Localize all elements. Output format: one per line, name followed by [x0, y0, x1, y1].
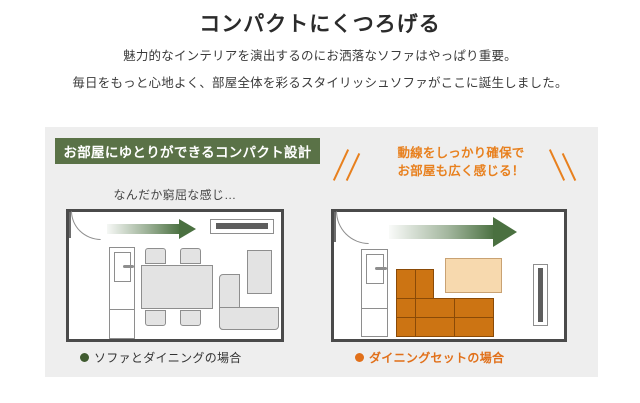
subtitle-line-1: 魅力的なインテリアを演出するのにお洒落なソファはやっぱり重要。: [0, 45, 640, 64]
door-swing-arc-icon: [71, 211, 101, 240]
page-title: コンパクトにくつろげる: [0, 8, 640, 38]
green-bullet-icon: [80, 353, 89, 362]
floor-plan-dining-set: [331, 209, 567, 342]
sofa-seam-vertical: [415, 269, 416, 337]
legend-sofa-and-dining-label: ソファとダイニングの場合: [94, 349, 242, 366]
cabinet-divider: [361, 308, 388, 309]
legend-sofa-and-dining: ソファとダイニングの場合: [80, 349, 242, 366]
room-right: [334, 212, 564, 339]
promo-page: コンパクトにくつろげる 魅力的なインテリアを演出するのにお洒落なソファはやっぱり…: [0, 0, 640, 403]
sofa-seam-seat-divider: [454, 298, 455, 337]
flow-arrow-green-small-head: [179, 219, 196, 239]
orange-bullet-icon: [355, 353, 364, 362]
spacious-callout: 動線をしっかり確保で お部屋も広く感じる！: [366, 144, 556, 180]
dining-chair-bottom-right: [180, 310, 201, 326]
sofa-seam-horizontal: [396, 317, 494, 318]
low-table-tan: [445, 258, 502, 293]
dining-table: [141, 265, 213, 309]
dining-chair-top-right: [180, 248, 201, 264]
dining-chair-top-left: [145, 248, 166, 264]
flow-arrow-green-large-head: [493, 217, 517, 247]
tv-screen-icon: [216, 223, 268, 229]
cabinet-handle-icon: [375, 267, 387, 270]
room-left: [69, 212, 281, 339]
l-shaped-sofa-seat: [219, 307, 279, 330]
legend-dining-set: ダイニングセットの場合: [355, 349, 504, 366]
flow-arrow-green-small-body: [107, 224, 181, 234]
subtitle-line-2: 毎日をもっと心地よく、部屋全体を彩るスタイリッシュソファがここに誕生しました。: [0, 72, 640, 91]
flow-arrow-green-large-body: [389, 225, 495, 239]
floor-plan-sofa-and-dining: [66, 209, 284, 342]
spacious-callout-line-1: 動線をしっかり確保で: [366, 144, 556, 162]
cabinet-handle-icon: [123, 265, 134, 268]
wall-tv-screen-icon: [538, 268, 543, 322]
cabinet-divider: [109, 309, 135, 310]
left-plan-caption: なんだか窮屈な感じ…: [60, 186, 290, 203]
side-shelf: [247, 250, 272, 294]
legend-dining-set-label: ダイニングセットの場合: [369, 349, 504, 366]
door-swing-arc-icon: [336, 211, 369, 244]
compact-design-ribbon: お部屋にゆとりができるコンパクト設計: [55, 138, 320, 164]
spacious-callout-line-2: お部屋も広く感じる！: [366, 162, 556, 180]
dining-chair-bottom-left: [145, 310, 166, 326]
